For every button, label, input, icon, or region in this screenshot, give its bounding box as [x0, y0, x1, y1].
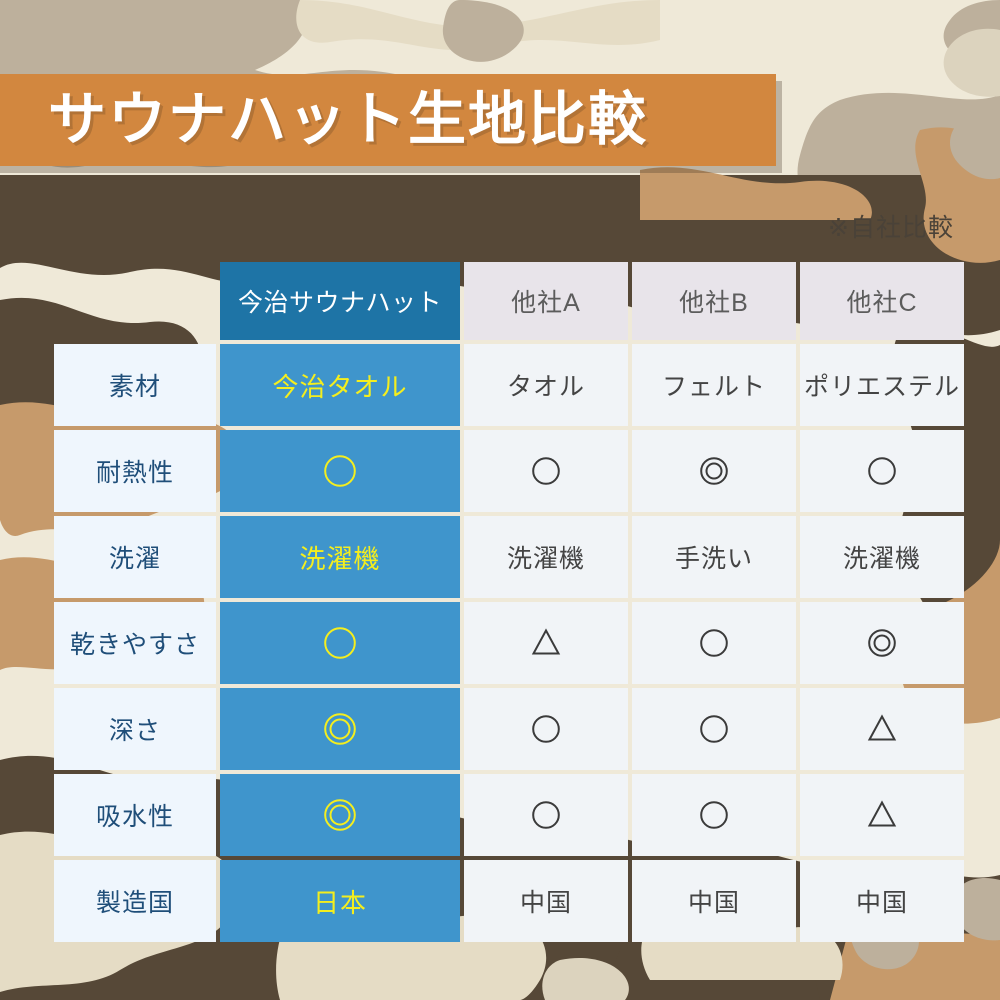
cell-company-a: タオル: [464, 344, 628, 426]
cell-company-c: ポリエステル: [800, 344, 964, 426]
table-row: 耐熱性: [54, 430, 964, 512]
cell-company-a: [464, 602, 628, 684]
cell-company-b: 中国: [632, 860, 796, 942]
cell-company-c: [800, 688, 964, 770]
header-row: 今治サウナハット 他社A 他社B 他社C: [54, 262, 964, 340]
cell-company-a: [464, 688, 628, 770]
cell-company-a: [464, 430, 628, 512]
row-label: 乾きやすさ: [54, 602, 216, 684]
table-row: 深さ: [54, 688, 964, 770]
cell-imabari: 今治タオル: [220, 344, 460, 426]
cell-imabari: [220, 430, 460, 512]
cell-company-c: [800, 774, 964, 856]
page-title: サウナハット生地比較: [48, 91, 648, 149]
cell-company-b: [632, 774, 796, 856]
row-label: 製造国: [54, 860, 216, 942]
header-imabari: 今治サウナハット: [220, 262, 460, 340]
cell-company-a: 中国: [464, 860, 628, 942]
cell-imabari: [220, 774, 460, 856]
infographic-page: サウナハット生地比較 ※自社比較 今治サウナハット 他社A 他社B 他社C 素材…: [0, 0, 1000, 1000]
table-row: 製造国日本中国中国中国: [54, 860, 964, 942]
cell-company-a: [464, 774, 628, 856]
table-row: 乾きやすさ: [54, 602, 964, 684]
cell-imabari: [220, 688, 460, 770]
table-row: 素材今治タオルタオルフェルトポリエステル: [54, 344, 964, 426]
comparison-note: ※自社比較: [828, 208, 954, 244]
row-label: 洗濯: [54, 516, 216, 598]
cell-company-b: 手洗い: [632, 516, 796, 598]
table-body: 素材今治タオルタオルフェルトポリエステル耐熱性洗濯洗濯機洗濯機手洗い洗濯機乾きや…: [54, 344, 964, 942]
cell-company-b: [632, 430, 796, 512]
cell-company-c: [800, 430, 964, 512]
cell-imabari: 日本: [220, 860, 460, 942]
table-header: 今治サウナハット 他社A 他社B 他社C: [54, 262, 964, 340]
fabric-comparison-table: 今治サウナハット 他社A 他社B 他社C 素材今治タオルタオルフェルトポリエステ…: [50, 258, 968, 946]
cell-company-b: フェルト: [632, 344, 796, 426]
header-company-a: 他社A: [464, 262, 628, 340]
cell-company-a: 洗濯機: [464, 516, 628, 598]
row-label: 素材: [54, 344, 216, 426]
cell-company-b: [632, 688, 796, 770]
cell-company-b: [632, 602, 796, 684]
cell-company-c: [800, 602, 964, 684]
cell-company-c: 中国: [800, 860, 964, 942]
header-company-c: 他社C: [800, 262, 964, 340]
row-label: 吸水性: [54, 774, 216, 856]
cell-imabari: 洗濯機: [220, 516, 460, 598]
header-corner-blank: [54, 262, 216, 340]
title-banner: サウナハット生地比較: [0, 74, 776, 166]
header-company-b: 他社B: [632, 262, 796, 340]
table-row: 吸水性: [54, 774, 964, 856]
row-label: 深さ: [54, 688, 216, 770]
row-label: 耐熱性: [54, 430, 216, 512]
cell-company-c: 洗濯機: [800, 516, 964, 598]
cell-imabari: [220, 602, 460, 684]
table-row: 洗濯洗濯機洗濯機手洗い洗濯機: [54, 516, 964, 598]
